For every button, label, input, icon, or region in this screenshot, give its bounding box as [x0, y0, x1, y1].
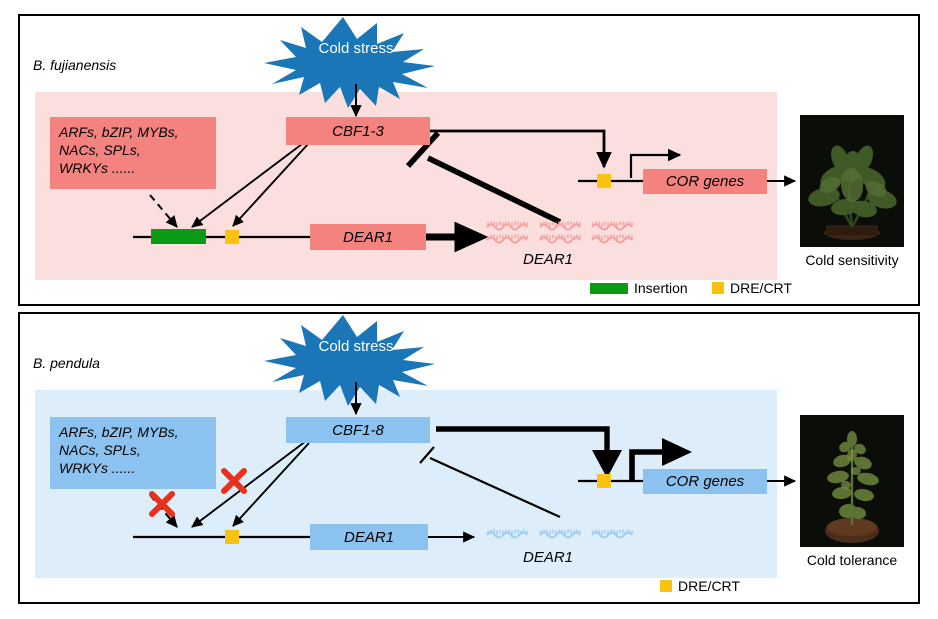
dre-crt-site-cor-bottom: [597, 474, 611, 488]
phenotype-photo-bottom: [800, 415, 904, 547]
dear1-transcription-arrow-top: [426, 227, 480, 247]
cor-genes-box-top: COR genes: [643, 169, 767, 194]
dear1-box-bottom: DEAR1: [310, 524, 428, 550]
phenotype-caption-bottom: Cold tolerance: [790, 552, 914, 568]
dre-crt-swatch-icon: [712, 282, 724, 294]
cbf-to-cor-drecrt-arrow-top: [430, 131, 604, 167]
dear1-mrna-group-bottom: [487, 529, 632, 537]
dear1-inhibits-cbf-bottom: [420, 447, 560, 517]
cbf-to-cor-drecrt-arrow-bottom: [436, 429, 607, 452]
block-x-solid-bottom: [224, 471, 244, 491]
top-panel-vectors: [133, 17, 795, 247]
tf-line-1: ARFs, bZIP, MYBs,: [59, 423, 208, 441]
block-x-dashed-bottom: [152, 494, 172, 514]
dre-crt-site-dear1-bottom: [225, 530, 239, 544]
dear1-inhibits-cbf-top: [408, 133, 560, 222]
tf-line-3: WRKYs ......: [59, 459, 208, 477]
cor-tss-arrowhead-bottom: [662, 438, 692, 466]
legend-drecrt-label: DRE/CRT: [678, 578, 740, 594]
diagram-vector-layer: [0, 0, 938, 619]
dear1-mrna-label-bottom: DEAR1: [523, 549, 573, 566]
dear1-mrna-group-top: [487, 221, 632, 242]
insertion-swatch-icon: [590, 283, 628, 294]
tf-box-bottom: ARFs, bZIP, MYBs, NACs, SPLs, WRKYs ....…: [50, 417, 216, 489]
cbf-box-top: CBF1-3: [286, 117, 430, 145]
legend-drecrt-bottom: DRE/CRT: [660, 578, 740, 594]
tf-to-insertion-dashed-arrow-top: [150, 195, 177, 227]
cbf-box-bottom: CBF1-8: [286, 417, 430, 443]
tf-line-2: NACs, SPLs,: [59, 141, 208, 159]
dre-crt-site-dear1-top: [225, 230, 239, 244]
legend-insertion-label: Insertion: [634, 280, 688, 296]
cbf-to-cor-arrowhead-bottom: [592, 450, 622, 478]
tf-line-3: WRKYs ......: [59, 159, 208, 177]
cold-tolerant-plant-illustration: [800, 415, 904, 547]
tf-line-1: ARFs, bZIP, MYBs,: [59, 123, 208, 141]
cold-sensitive-plant-illustration: [800, 115, 904, 247]
phenotype-caption-top: Cold sensitivity: [790, 252, 914, 268]
species-label-top: B. fujianensis: [33, 57, 116, 73]
dre-crt-site-cor-top: [597, 174, 611, 188]
legend-drecrt-top: DRE/CRT: [712, 280, 792, 296]
cbf-to-drecrt-arrow-top: [233, 143, 309, 226]
legend-drecrt-label: DRE/CRT: [730, 280, 792, 296]
tf-box-top: ARFs, bZIP, MYBs, NACs, SPLs, WRKYs ....…: [50, 117, 216, 189]
species-label-bottom: B. pendula: [33, 355, 100, 371]
cold-stress-label-bottom: Cold stress: [292, 338, 420, 355]
tf-line-2: NACs, SPLs,: [59, 441, 208, 459]
dear1-mrna-label-top: DEAR1: [523, 251, 573, 268]
dear1-box-top: DEAR1: [310, 224, 426, 250]
cold-stress-starburst-top: [264, 17, 435, 108]
cor-genes-box-bottom: COR genes: [643, 469, 767, 494]
legend-insertion-top: Insertion: [590, 280, 688, 296]
phenotype-photo-top: [800, 115, 904, 247]
cold-stress-starburst-bottom: [264, 315, 435, 406]
insertion-block-top: [151, 229, 206, 244]
dre-crt-swatch-icon: [660, 580, 672, 592]
cold-stress-label-top: Cold stress: [292, 40, 420, 57]
cbf-to-drecrt-arrow-bottom: [233, 443, 309, 526]
figure-root: B. fujianensis Cold stress ARFs, bZIP, M…: [0, 0, 938, 619]
bottom-panel-vectors: [133, 315, 795, 544]
